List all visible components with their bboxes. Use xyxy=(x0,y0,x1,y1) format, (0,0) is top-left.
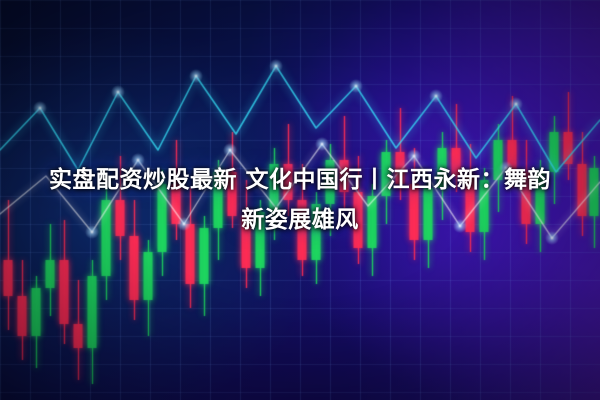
vignette-overlay xyxy=(0,0,600,400)
banner-image: 实盘配资炒股最新 文化中国行丨江西永新：舞韵 新姿展雄风 xyxy=(0,0,600,400)
